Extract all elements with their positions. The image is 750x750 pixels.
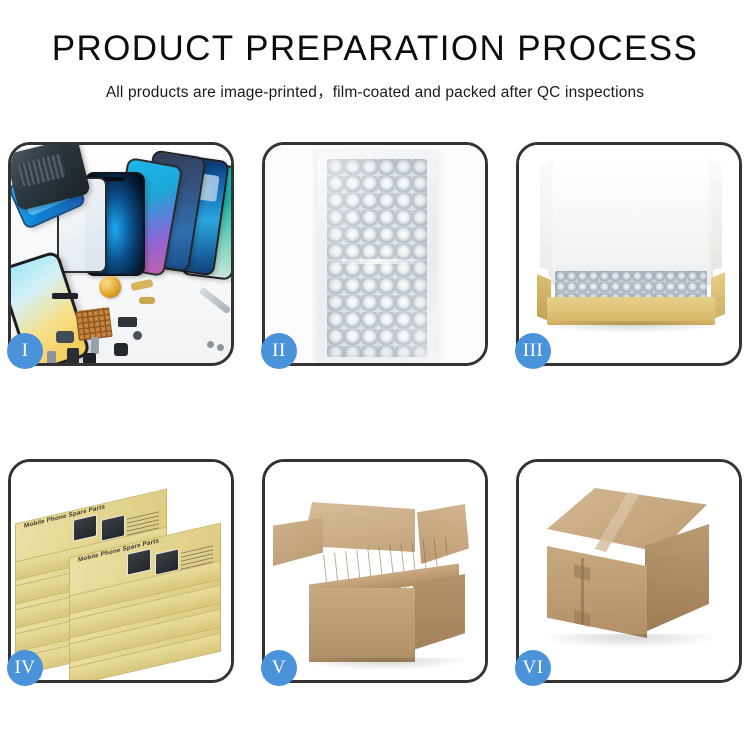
screw-tray-icon (75, 307, 112, 341)
step-panel-1[interactable]: I (8, 142, 234, 366)
step-badge-3: III (515, 333, 551, 369)
open-carton-photo (265, 462, 485, 680)
part-home-button-icon (133, 331, 142, 340)
plastic-sheen (317, 151, 437, 363)
carton-front-panel (309, 588, 415, 662)
part-sim-tray-icon (47, 351, 56, 363)
page-subtitle: All products are image-printed，film-coat… (0, 80, 750, 102)
step-badge-2: II (261, 333, 297, 369)
phones-and-parts-photo (11, 145, 231, 363)
sealed-carton-photo (519, 462, 739, 680)
part-antenna-icon (91, 337, 99, 354)
carton-left-flap (273, 518, 323, 566)
bubble-wrap-photo (265, 145, 485, 363)
step-image-3 (519, 145, 739, 363)
part-gold-flex-icon (130, 279, 153, 291)
tweezers-icon (199, 287, 231, 315)
part-flex-cable-icon (118, 317, 137, 327)
speaker-coil-icon (99, 276, 121, 298)
bubble-wrapped-contents-icon (555, 271, 707, 299)
retail-box-stack-photo: Mobile Phone Spare Parts (11, 462, 231, 680)
step-panel-5[interactable]: V (262, 459, 488, 683)
part-gold-strip-icon (139, 297, 155, 304)
page-header: PRODUCT PREPARATION PROCESS All products… (0, 0, 750, 102)
part-vibrator-icon (114, 343, 128, 356)
step-badge-1: I (7, 333, 43, 369)
step-panel-3[interactable]: III (516, 142, 742, 366)
step-panel-4[interactable]: Mobile Phone Spare Parts (8, 459, 234, 683)
part-button-icon (83, 353, 96, 363)
part-camera-icon (56, 331, 74, 343)
step-image-1 (11, 145, 231, 363)
page-title: PRODUCT PREPARATION PROCESS (0, 30, 750, 69)
drop-shadow (305, 658, 465, 670)
step-panel-2[interactable]: II (262, 142, 488, 366)
process-steps-grid: I II III (8, 142, 742, 683)
step-badge-4: IV (7, 650, 43, 686)
step-badge-5: V (261, 650, 297, 686)
screw-icon (207, 341, 214, 348)
part-speaker-icon (67, 348, 79, 363)
step-image-4: Mobile Phone Spare Parts (11, 462, 231, 680)
carton-side-panel (413, 574, 465, 650)
screw-icon (217, 344, 224, 351)
carton-flap-tab (574, 610, 590, 627)
step-image-2 (265, 145, 485, 363)
step-image-6 (519, 462, 739, 680)
drop-shadow (545, 634, 713, 648)
step-badge-6: VI (515, 650, 551, 686)
part-connector-icon (52, 293, 78, 299)
carton-front-panel (547, 546, 647, 638)
step-image-5 (265, 462, 485, 680)
mailer-lid-icon (549, 159, 713, 277)
drop-shadow (543, 321, 719, 333)
step-panel-6[interactable]: VI (516, 459, 742, 683)
bubble-wrap-bag-icon (317, 151, 437, 363)
inner-box-photo (519, 145, 739, 363)
